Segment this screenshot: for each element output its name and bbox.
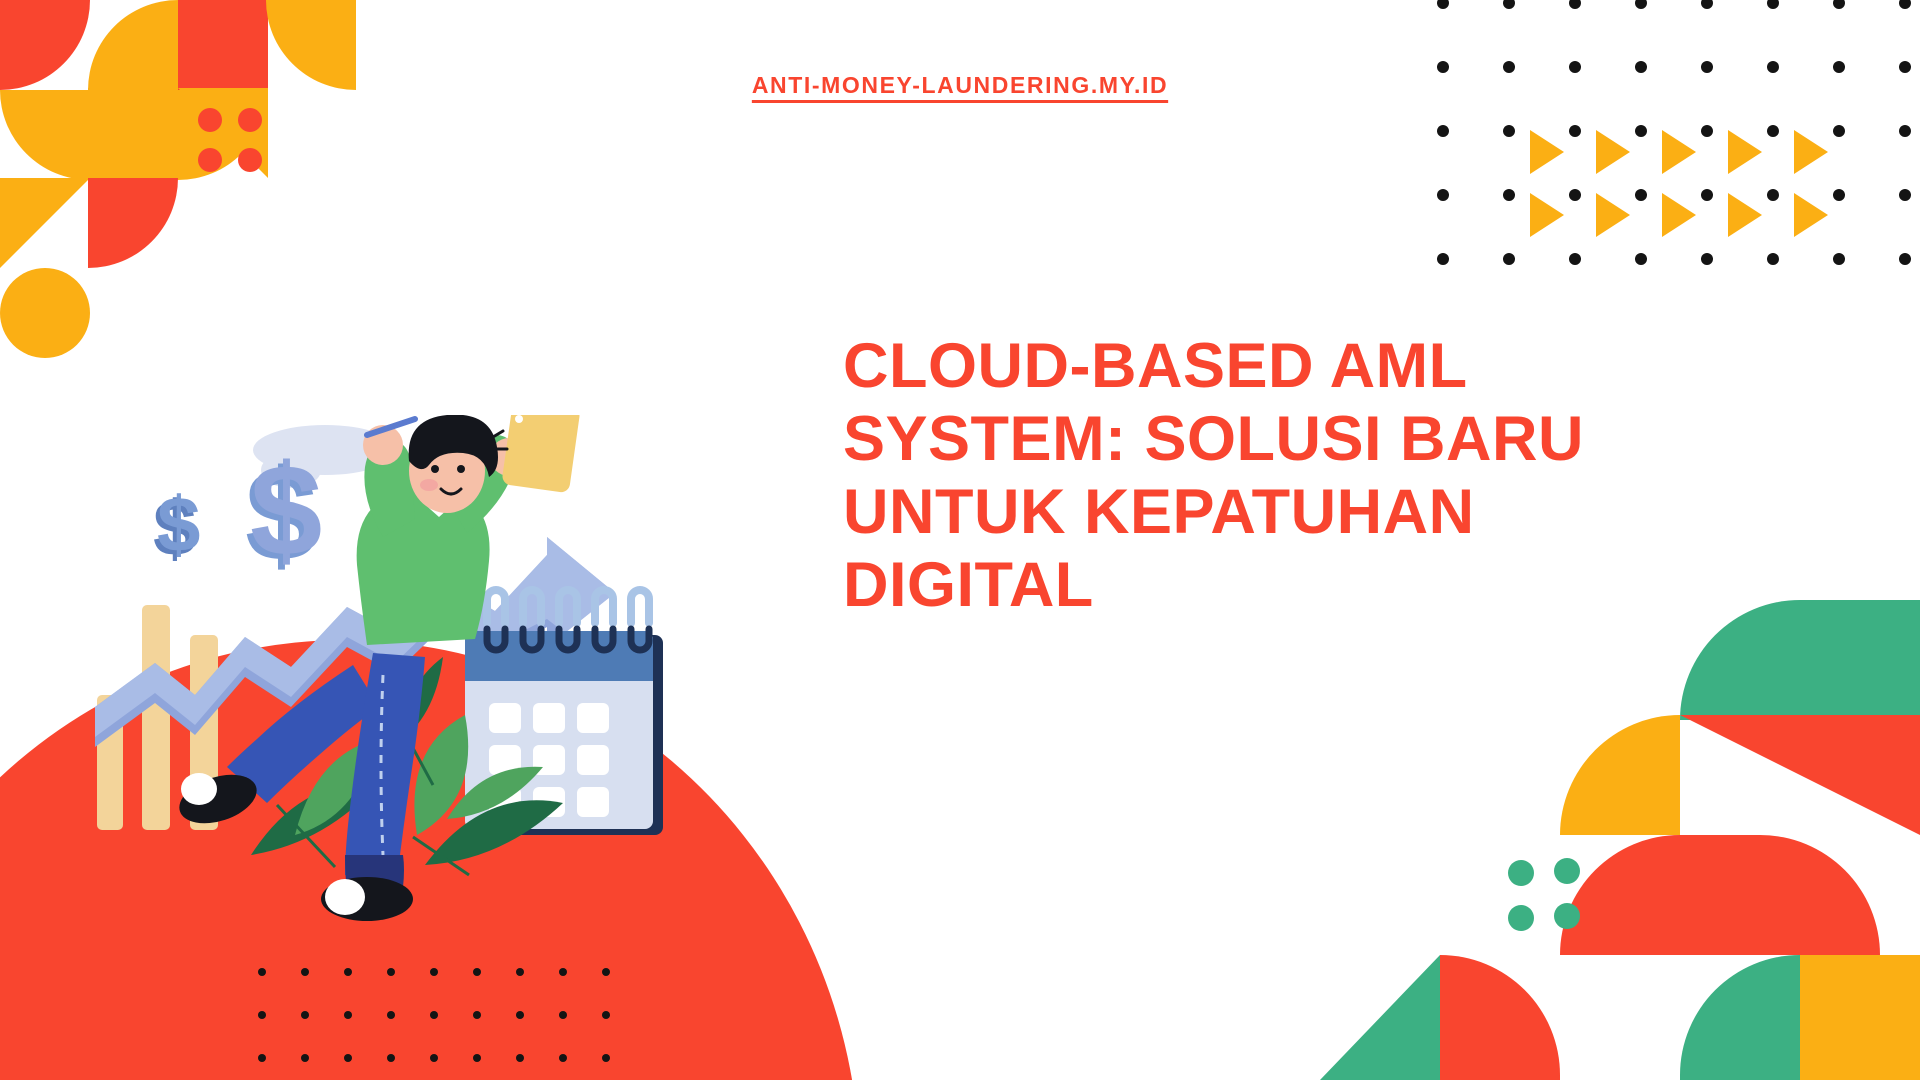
red-quarter-circle xyxy=(88,178,178,268)
grid-dot xyxy=(387,1011,395,1019)
grid-dot xyxy=(387,1054,395,1062)
yellow-square xyxy=(1800,955,1920,1080)
grid-dot xyxy=(1635,253,1647,265)
yellow-triangle-icon xyxy=(1596,130,1630,174)
grid-dot xyxy=(473,1054,481,1062)
yellow-triangle-icon xyxy=(1794,130,1828,174)
green-dot xyxy=(1554,903,1580,929)
green-quarter-circle xyxy=(1680,600,1800,720)
grid-dot xyxy=(430,1011,438,1019)
grid-dot xyxy=(1701,0,1713,9)
green-dot xyxy=(1554,858,1580,884)
page-title: CLOUD-BASED AMLSYSTEM: SOLUSI BARUUNTUK … xyxy=(843,330,1633,622)
yellow-triangle-icon xyxy=(1530,130,1564,174)
grid-dot xyxy=(344,968,352,976)
grid-dot xyxy=(1437,253,1449,265)
business-growth-illustration: $ $ $ $ xyxy=(95,415,675,925)
grid-dot xyxy=(1569,0,1581,9)
grid-dot xyxy=(602,1011,610,1019)
dollar-sign-large: $ $ xyxy=(245,437,322,588)
yellow-triangle-icon xyxy=(1794,193,1828,237)
grid-dot xyxy=(344,1011,352,1019)
yellow-quarter-circle xyxy=(88,88,178,178)
grid-dot xyxy=(559,1011,567,1019)
red-dot xyxy=(198,148,222,172)
grid-dot xyxy=(559,968,567,976)
top-left-shape-cluster xyxy=(0,0,380,380)
green-quarter-circle xyxy=(1680,955,1800,1080)
grid-dot xyxy=(301,1054,309,1062)
tablet-icon xyxy=(501,415,580,493)
green-triangle xyxy=(1320,955,1440,1080)
yellow-triangle-icon xyxy=(1728,193,1762,237)
top-right-triangle-group xyxy=(1530,130,1860,240)
site-link[interactable]: ANTI-MONEY-LAUNDERING.MY.ID xyxy=(0,72,1920,99)
grid-dot xyxy=(1635,0,1647,9)
grid-dot xyxy=(1437,0,1449,9)
yellow-triangle xyxy=(0,178,90,268)
yellow-triangle-icon xyxy=(1662,130,1696,174)
grid-dot xyxy=(1437,189,1449,201)
grid-dot xyxy=(602,1054,610,1062)
grid-dot xyxy=(516,1054,524,1062)
grid-dot xyxy=(387,968,395,976)
grid-dot xyxy=(301,968,309,976)
grid-dot xyxy=(1503,189,1515,201)
bottom-right-shape-cluster xyxy=(1400,600,1920,1080)
grid-dot xyxy=(602,968,610,976)
green-quarter-circle xyxy=(1800,600,1920,720)
grid-dot xyxy=(258,968,266,976)
red-triangle xyxy=(1680,715,1920,835)
grid-dot xyxy=(1899,189,1911,201)
yellow-triangle-icon xyxy=(1530,193,1564,237)
red-quarter-circle xyxy=(1440,955,1560,1080)
bottom-left-dot-grid xyxy=(258,968,658,1080)
green-dot xyxy=(1508,905,1534,931)
grid-dot xyxy=(516,1011,524,1019)
grid-dot xyxy=(1833,253,1845,265)
grid-dot xyxy=(1569,253,1581,265)
grid-dot xyxy=(1503,125,1515,137)
grid-dot xyxy=(301,1011,309,1019)
grid-dot xyxy=(1503,0,1515,9)
red-half-circle xyxy=(1560,835,1880,955)
page-title-line: SYSTEM: SOLUSI BARU xyxy=(843,403,1633,476)
yellow-quarter-circle xyxy=(1560,715,1680,835)
page-title-line: CLOUD-BASED AML xyxy=(843,330,1633,403)
grid-dot xyxy=(258,1054,266,1062)
grid-dot xyxy=(1503,253,1515,265)
dollar-sign-small: $ $ xyxy=(153,480,200,572)
grid-dot xyxy=(1767,253,1779,265)
grid-dot xyxy=(473,1011,481,1019)
yellow-quarter-circle xyxy=(0,90,90,180)
grid-dot xyxy=(258,1011,266,1019)
grid-dot xyxy=(430,1054,438,1062)
red-dot xyxy=(238,108,262,132)
grid-dot xyxy=(1437,125,1449,137)
grid-dot xyxy=(473,968,481,976)
grid-dot xyxy=(1899,0,1911,9)
grid-dot xyxy=(516,968,524,976)
grid-dot xyxy=(559,1054,567,1062)
grid-dot xyxy=(1833,0,1845,9)
red-dot xyxy=(198,108,222,132)
poster-canvas: ANTI-MONEY-LAUNDERING.MY.ID CLOUD-BASED … xyxy=(0,0,1920,1080)
red-dot xyxy=(238,148,262,172)
svg-text:$: $ xyxy=(157,480,200,568)
grid-dot xyxy=(1767,0,1779,9)
page-title-line: DIGITAL xyxy=(843,549,1633,622)
svg-text:$: $ xyxy=(250,437,322,583)
yellow-circle xyxy=(0,268,90,358)
grid-dot xyxy=(1701,253,1713,265)
grid-dot xyxy=(1899,125,1911,137)
grid-dot xyxy=(1899,253,1911,265)
yellow-triangle-icon xyxy=(1662,193,1696,237)
green-dot xyxy=(1508,860,1534,886)
yellow-triangle-icon xyxy=(1596,193,1630,237)
page-title-line: UNTUK KEPATUHAN xyxy=(843,476,1633,549)
yellow-triangle-icon xyxy=(1728,130,1762,174)
grid-dot xyxy=(430,968,438,976)
grid-dot xyxy=(344,1054,352,1062)
